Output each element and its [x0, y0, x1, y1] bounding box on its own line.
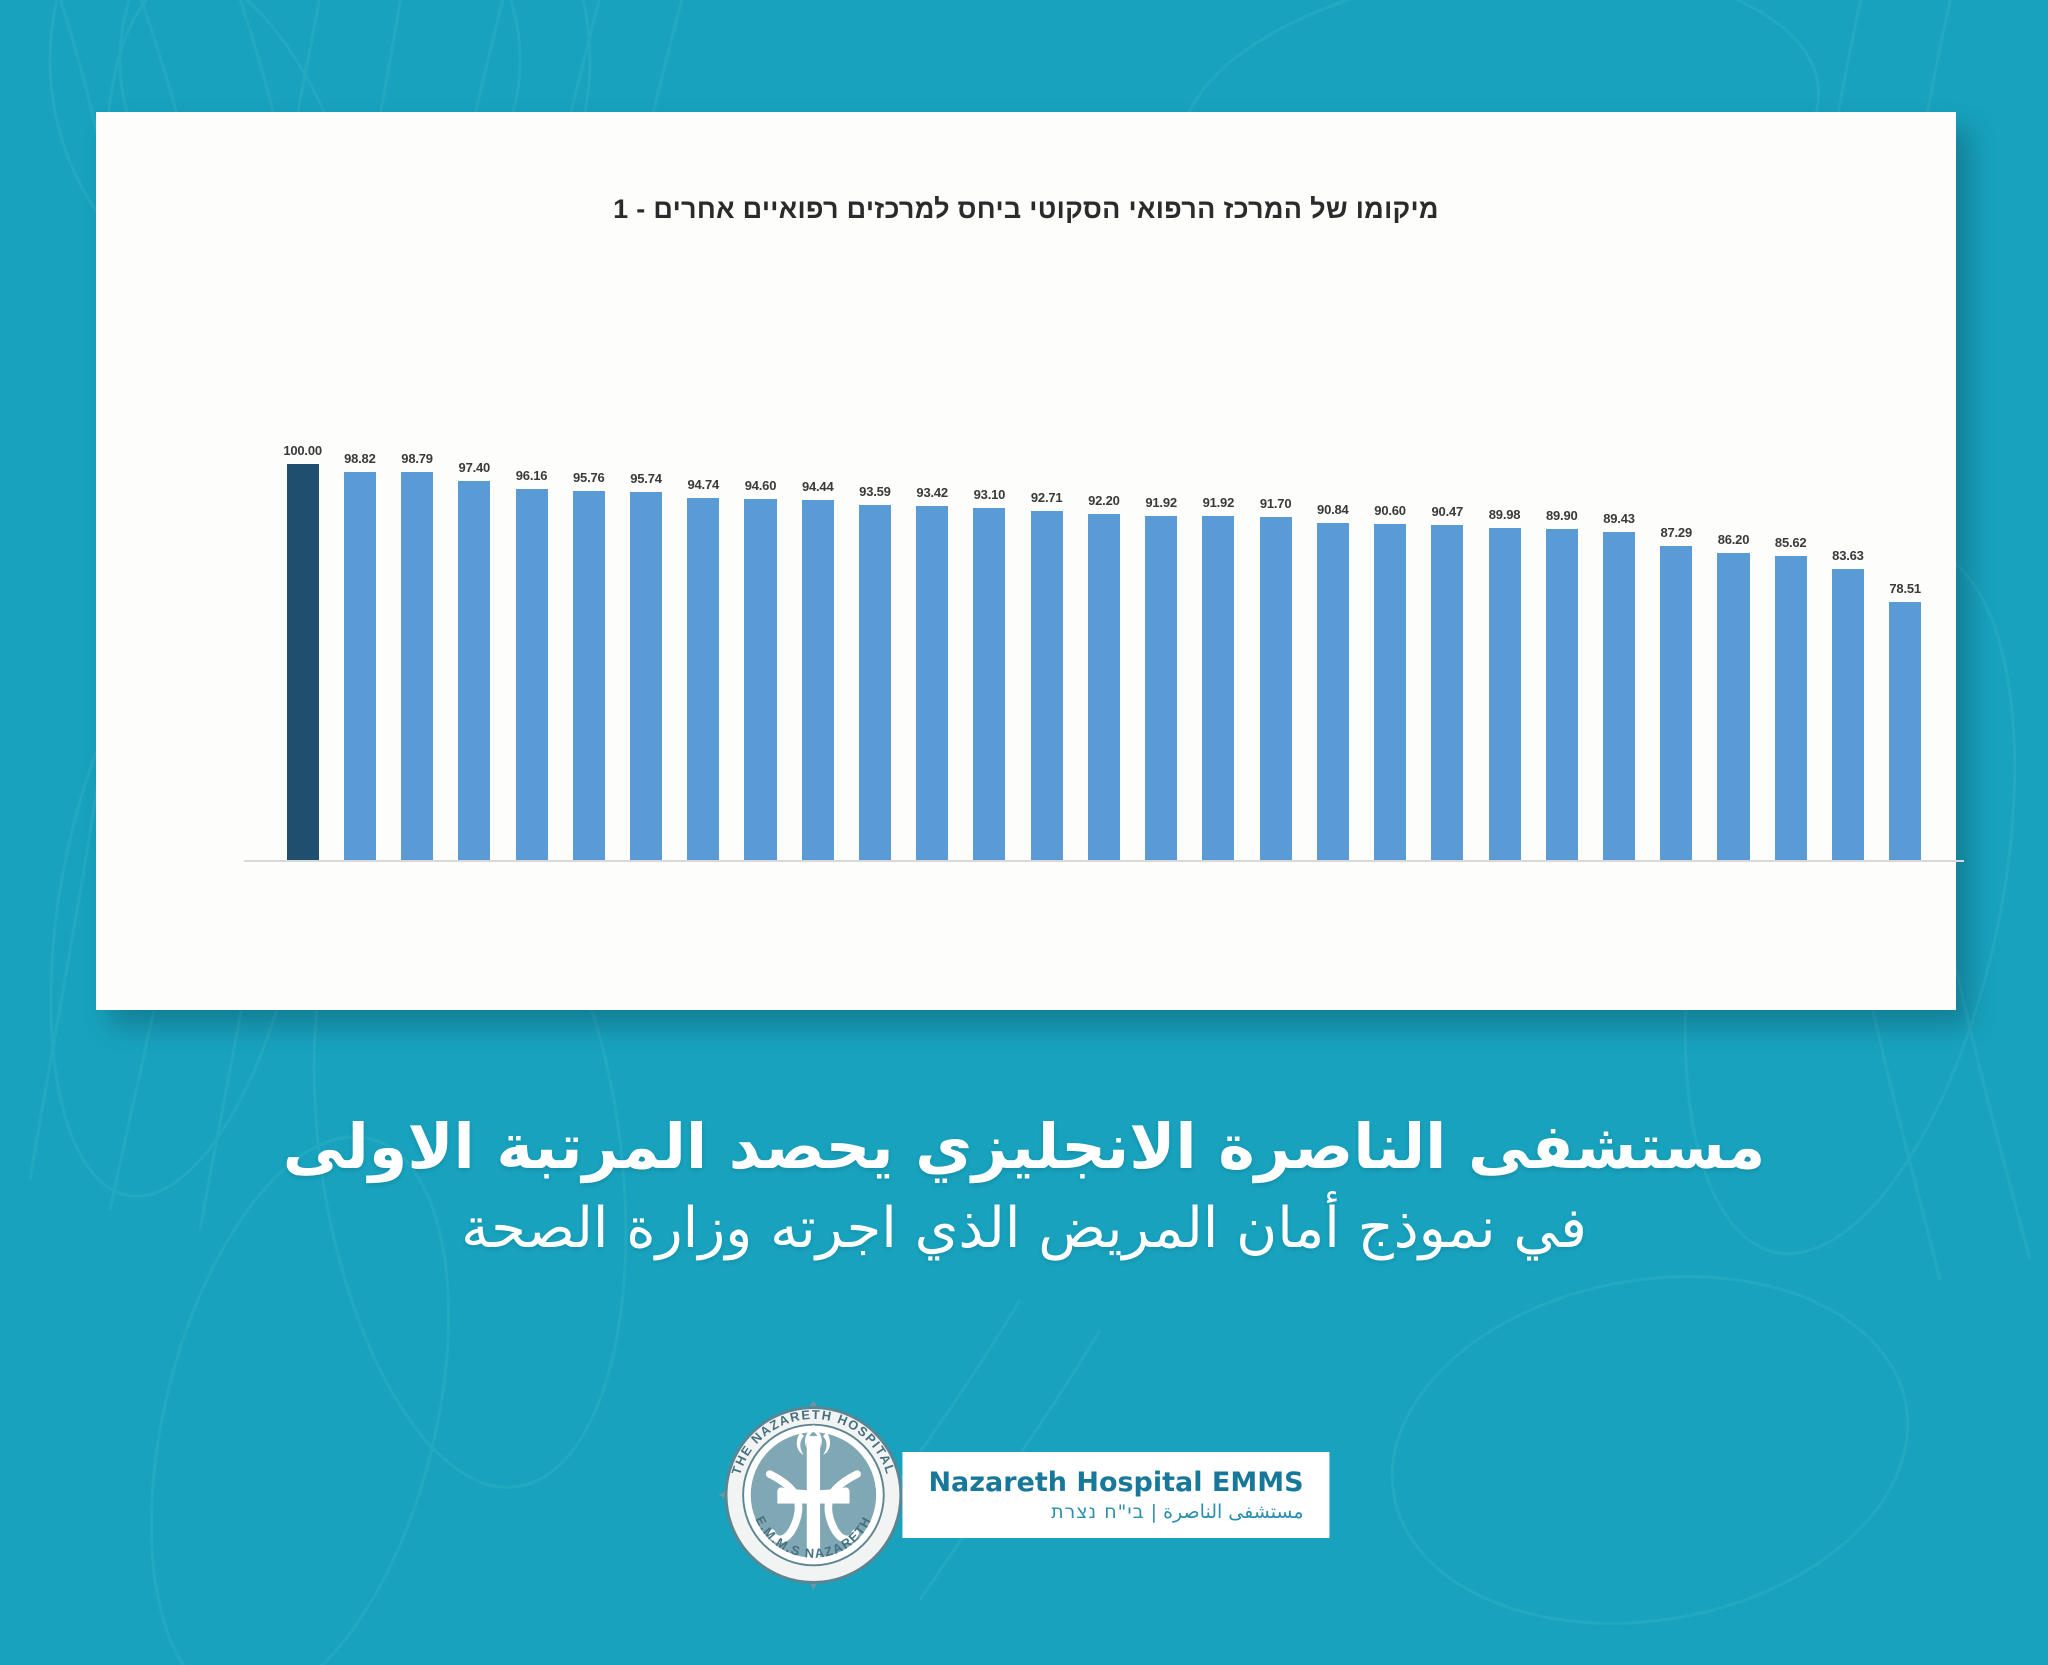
bar-value-label: 94.60	[745, 479, 777, 492]
bar-highlighted	[287, 464, 319, 862]
poster-canvas: מיקומו של המרכז הרפואי הסקוטי ביחס למרכז…	[0, 0, 2048, 1665]
chart-card: מיקומו של המרכז הרפואי הסקוטי ביחס למרכז…	[96, 112, 1956, 1010]
bar-slot: 94.44	[789, 442, 846, 862]
bar-value-label: 98.79	[401, 452, 433, 465]
bar	[573, 491, 605, 862]
bar-value-label: 95.76	[573, 471, 605, 484]
bar-slot: 94.60	[732, 442, 789, 862]
bar	[1889, 602, 1921, 862]
bar-slot: 89.43	[1590, 442, 1647, 862]
chart-title: מיקומו של המרכז הרפואי הסקוטי ביחס למרכז…	[96, 194, 1956, 225]
bar-slot: 91.92	[1133, 442, 1190, 862]
headline-primary: مستشفى الناصرة الانجليزي يحصد المرتبة ال…	[120, 1110, 1928, 1183]
bar	[744, 499, 776, 862]
wordmark-english: Nazareth Hospital EMMS	[928, 1468, 1303, 1498]
bar	[802, 500, 834, 862]
bar-slot: 95.76	[560, 442, 617, 862]
bar	[344, 472, 376, 862]
bar-value-label: 100.00	[283, 444, 322, 457]
bar-slot: 89.90	[1533, 442, 1590, 862]
chart-baseline-axis	[244, 860, 1964, 862]
bar-value-label: 98.82	[344, 452, 376, 465]
bar	[1603, 532, 1635, 862]
bar-value-label: 93.10	[974, 488, 1006, 501]
bar-slot: 86.20	[1705, 442, 1762, 862]
bar-slot: 90.47	[1419, 442, 1476, 862]
bar-slot: 78.51	[1877, 442, 1934, 862]
bar-slot: 93.59	[846, 442, 903, 862]
bar-value-label: 95.74	[630, 472, 662, 485]
bar-value-label: 83.63	[1832, 549, 1864, 562]
bar-slot: 98.79	[388, 442, 445, 862]
bar	[1031, 511, 1063, 862]
bar-slot: 96.16	[503, 442, 560, 862]
bar-value-label: 89.90	[1546, 509, 1578, 522]
bar-slot: 90.84	[1304, 442, 1361, 862]
bar-value-label: 90.60	[1374, 504, 1406, 517]
bar-slot: 93.10	[961, 442, 1018, 862]
bar-value-label: 96.16	[516, 469, 548, 482]
bar	[1374, 524, 1406, 862]
bar	[1260, 517, 1292, 862]
bar-slot: 85.62	[1762, 442, 1819, 862]
bar-slot: 89.98	[1476, 442, 1533, 862]
wordmark-hebrew: בי"ח נצרת	[1051, 1501, 1145, 1523]
bar	[916, 506, 948, 862]
bar-slot: 100.00	[274, 442, 331, 862]
bar-value-label: 91.92	[1145, 496, 1177, 509]
bar	[687, 498, 719, 862]
logo-lockup: THE NAZARETH HOSPITAL E.M.M.S NAZARETH N…	[718, 1400, 1329, 1590]
bar	[1145, 516, 1177, 862]
bar	[1717, 553, 1749, 862]
bar	[516, 489, 548, 862]
wordmark-bilingual: مستشفى الناصرة | בי"ח נצרת	[928, 1502, 1303, 1524]
bar-chart-plot-area: 100.0098.8298.7997.4096.1695.7695.7494.7…	[274, 442, 1934, 862]
bar-slot: 98.82	[331, 442, 388, 862]
bar-slot: 92.20	[1075, 442, 1132, 862]
bar-slot: 83.63	[1819, 442, 1876, 862]
bar-value-label: 94.74	[687, 478, 719, 491]
bar	[1660, 546, 1692, 862]
bar	[1088, 514, 1120, 862]
bar	[1775, 556, 1807, 862]
bar-value-label: 91.70	[1260, 497, 1292, 510]
bar	[1489, 528, 1521, 862]
bar	[1431, 525, 1463, 862]
bar-slot: 94.74	[675, 442, 732, 862]
bar-value-label: 86.20	[1718, 533, 1750, 546]
bar-slot: 93.42	[904, 442, 961, 862]
bar	[1546, 529, 1578, 862]
bar	[1832, 569, 1864, 862]
bar	[458, 481, 490, 862]
headline-secondary: في نموذج أمان المريض الذي اجرته وزارة ال…	[120, 1195, 1928, 1262]
hospital-seal-logo: THE NAZARETH HOSPITAL E.M.M.S NAZARETH	[718, 1400, 908, 1590]
bar-value-label: 89.98	[1489, 508, 1521, 521]
bar-slot: 91.70	[1247, 442, 1304, 862]
bar-slot: 92.71	[1018, 442, 1075, 862]
bar-value-label: 93.42	[916, 486, 948, 499]
bar-value-label: 85.62	[1775, 536, 1807, 549]
bar-value-label: 94.44	[802, 480, 834, 493]
headline-block: مستشفى الناصرة الانجليزي يحصد المرتبة ال…	[0, 1110, 2048, 1262]
wordmark-box: Nazareth Hospital EMMS مستشفى الناصرة | …	[902, 1452, 1329, 1538]
bar	[401, 472, 433, 862]
bar-slot: 91.92	[1190, 442, 1247, 862]
bar	[859, 505, 891, 862]
bar-value-label: 91.92	[1203, 496, 1235, 509]
bar-slot: 90.60	[1361, 442, 1418, 862]
bar-value-label: 78.51	[1889, 582, 1921, 595]
wordmark-separator: |	[1151, 1501, 1157, 1523]
bar-slot: 97.40	[446, 442, 503, 862]
bar-value-label: 89.43	[1603, 512, 1635, 525]
bar-value-label: 90.47	[1432, 505, 1464, 518]
bar-value-label: 90.84	[1317, 503, 1349, 516]
bar-value-label: 92.71	[1031, 491, 1063, 504]
bar	[1317, 523, 1349, 862]
bar-slot: 95.74	[617, 442, 674, 862]
bar-value-label: 92.20	[1088, 494, 1120, 507]
bar	[1202, 516, 1234, 862]
bar-value-label: 97.40	[459, 461, 491, 474]
wordmark-arabic: مستشفى الناصرة	[1163, 1501, 1303, 1523]
bar-slot: 87.29	[1648, 442, 1705, 862]
bar	[973, 508, 1005, 862]
bar-series: 100.0098.8298.7997.4096.1695.7695.7494.7…	[274, 442, 1934, 862]
bar-value-label: 93.59	[859, 485, 891, 498]
bar	[630, 492, 662, 862]
bar-value-label: 87.29	[1660, 526, 1692, 539]
